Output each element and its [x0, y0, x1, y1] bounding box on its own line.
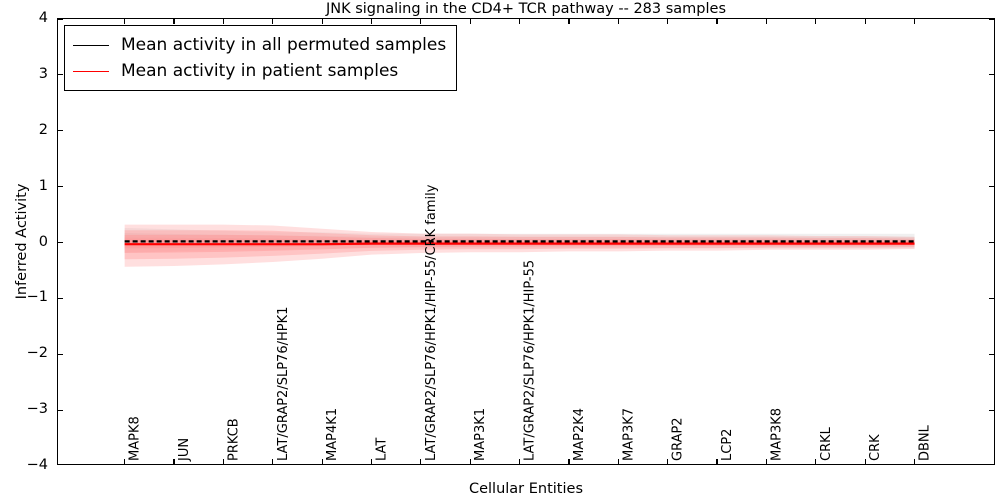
x-tick-mark: [322, 459, 323, 464]
legend-swatch-patient: [73, 71, 109, 72]
y-tick-mark: [989, 18, 994, 19]
legend-label-permuted: Mean activity in all permuted samples: [121, 32, 446, 58]
y-tick-mark: [989, 298, 994, 299]
y-tick-label: −1: [27, 288, 48, 306]
x-tick-mark: [568, 459, 569, 464]
x-tick-mark: [519, 459, 520, 464]
x-tick-label: LCP2: [721, 429, 734, 461]
y-tick-mark: [989, 410, 994, 411]
y-tick-label: 1: [39, 177, 48, 195]
chart-legend: Mean activity in all permuted samples Me…: [64, 25, 457, 91]
y-tick-label: 3: [39, 65, 48, 83]
y-tick-mark: [989, 130, 994, 131]
y-tick-mark: [989, 354, 994, 355]
y-tick-label: −3: [27, 400, 48, 418]
x-tick-label: MAP3K1: [474, 408, 487, 461]
x-tick-mark: [470, 19, 471, 24]
x-tick-label: MAPK8: [129, 416, 142, 461]
x-tick-label: GRAP2: [672, 417, 685, 461]
legend-item: Mean activity in all permuted samples: [73, 32, 446, 58]
x-tick-mark: [124, 459, 125, 464]
x-tick-mark: [815, 19, 816, 24]
y-tick-label: −4: [27, 456, 48, 474]
x-tick-mark: [420, 19, 421, 24]
x-tick-label: LAT: [375, 438, 388, 461]
x-tick-mark: [667, 19, 668, 24]
x-tick-mark: [272, 19, 273, 24]
x-tick-mark: [716, 19, 717, 24]
x-tick-mark: [420, 459, 421, 464]
y-tick-label: 4: [39, 9, 48, 27]
x-tick-label: CRK: [869, 434, 882, 461]
legend-item: Mean activity in patient samples: [73, 58, 446, 84]
x-tick-label: PRKCB: [227, 418, 240, 461]
y-tick-label: −2: [27, 344, 48, 362]
x-tick-mark: [618, 19, 619, 24]
x-tick-mark: [519, 19, 520, 24]
x-tick-label: CRKL: [820, 427, 833, 461]
legend-label-patient: Mean activity in patient samples: [121, 58, 398, 84]
x-axis-label: Cellular Entities: [57, 480, 995, 498]
x-tick-label: JUN: [178, 438, 191, 461]
y-tick-mark: [58, 410, 63, 411]
chart-figure: JNK signaling in the CD4+ TCR pathway --…: [0, 0, 1000, 500]
x-tick-mark: [815, 459, 816, 464]
x-tick-mark: [223, 459, 224, 464]
x-tick-mark: [371, 19, 372, 24]
x-tick-mark: [173, 459, 174, 464]
x-tick-label: MAP4K1: [326, 408, 339, 461]
x-tick-mark: [865, 459, 866, 464]
x-tick-mark: [766, 19, 767, 24]
x-tick-mark: [470, 459, 471, 464]
x-tick-mark: [865, 19, 866, 24]
y-tick-mark: [58, 298, 63, 299]
y-tick-label: 0: [39, 233, 48, 251]
y-tick-mark: [989, 186, 994, 187]
y-tick-mark: [58, 186, 63, 187]
x-tick-mark: [173, 19, 174, 24]
x-tick-mark: [914, 19, 915, 24]
y-tick-mark: [58, 18, 63, 19]
y-tick-label: 2: [39, 121, 48, 139]
x-tick-mark: [667, 459, 668, 464]
legend-swatch-permuted: [73, 45, 109, 46]
x-tick-mark: [716, 459, 717, 464]
y-tick-mark: [58, 74, 63, 75]
y-tick-mark: [989, 74, 994, 75]
x-tick-label: MAP3K7: [622, 408, 635, 461]
x-tick-mark: [568, 19, 569, 24]
y-axis-label: Inferred Activity: [14, 18, 30, 465]
patient-mean-line: [125, 244, 915, 245]
x-tick-label: LAT/GRAP2/SLP76/HPK1/HIP-55: [524, 260, 537, 461]
x-tick-mark: [272, 459, 273, 464]
chart-title: JNK signaling in the CD4+ TCR pathway --…: [57, 0, 995, 18]
x-tick-label: MAP2K4: [573, 408, 586, 461]
x-tick-mark: [371, 459, 372, 464]
x-tick-label: LAT/GRAP2/SLP76/HPK1: [277, 307, 290, 461]
x-tick-mark: [914, 459, 915, 464]
x-tick-mark: [766, 459, 767, 464]
x-tick-mark: [223, 19, 224, 24]
y-tick-mark: [58, 242, 63, 243]
x-tick-label: MAP3K8: [770, 408, 783, 461]
x-tick-label: DBNL: [919, 425, 932, 461]
x-tick-label: LAT/GRAP2/SLP76/HPK1/HIP-55/CRK family: [425, 185, 438, 461]
y-tick-mark: [58, 130, 63, 131]
x-tick-mark: [322, 19, 323, 24]
x-tick-mark: [618, 459, 619, 464]
y-tick-mark: [58, 354, 63, 355]
y-tick-mark: [989, 242, 994, 243]
x-tick-mark: [124, 19, 125, 24]
